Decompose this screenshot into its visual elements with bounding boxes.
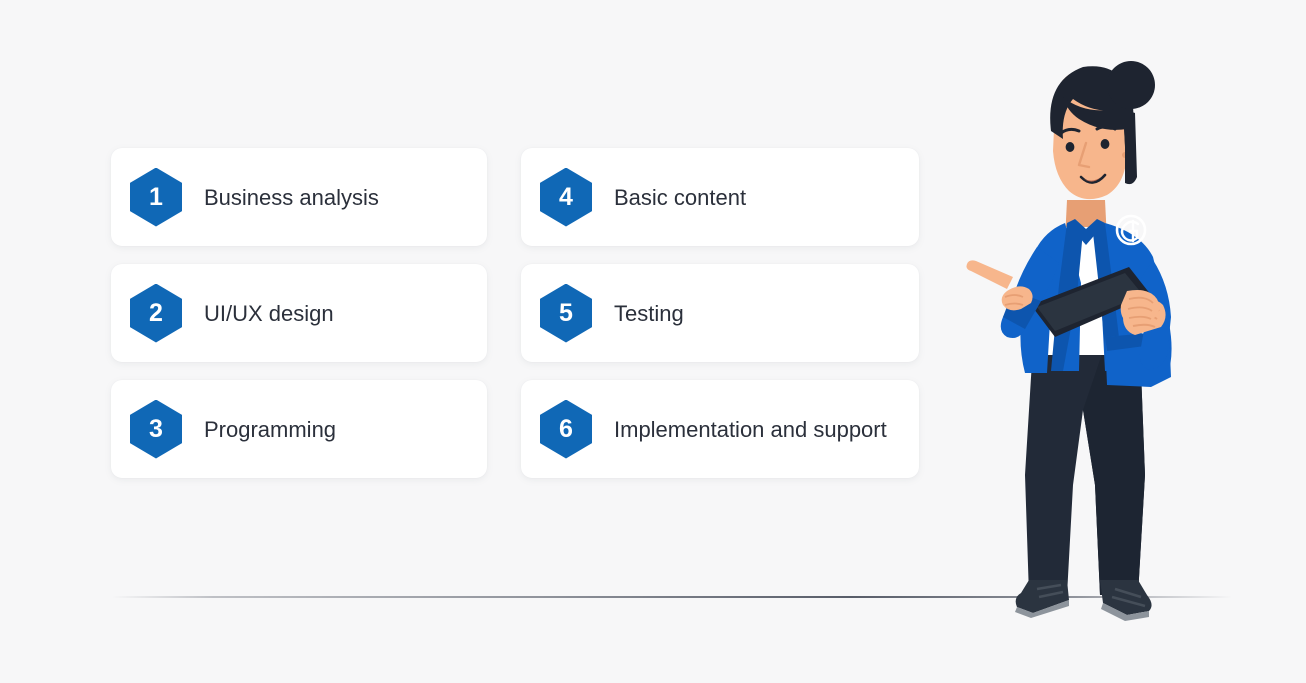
step-number: 5 <box>559 301 573 326</box>
step-label: Testing <box>614 299 684 328</box>
hexagon-badge-icon: 4 <box>540 168 592 227</box>
step-card-3[interactable]: 3 Programming <box>111 380 487 478</box>
step-card-1[interactable]: 1 Business analysis <box>111 148 487 246</box>
hexagon-badge-icon: 6 <box>540 400 592 459</box>
step-label: Implementation and support <box>614 415 887 444</box>
hexagon-badge-icon: 1 <box>130 168 182 227</box>
hexagon-badge-icon: 2 <box>130 284 182 343</box>
page-root: 1 Business analysis 4 Basic content 2 UI… <box>0 0 1306 683</box>
step-label: Programming <box>204 415 336 444</box>
step-number: 6 <box>559 417 573 442</box>
step-number: 2 <box>149 301 163 326</box>
step-label: Business analysis <box>204 183 379 212</box>
index-finger <box>967 260 1014 289</box>
steps-grid: 1 Business analysis 4 Basic content 2 UI… <box>111 148 921 478</box>
step-card-4[interactable]: 4 Basic content <box>521 148 919 246</box>
step-number: 1 <box>149 185 163 210</box>
hexagon-badge-icon: 5 <box>540 284 592 343</box>
step-label: Basic content <box>614 183 746 212</box>
step-number: 4 <box>559 185 573 210</box>
step-card-6[interactable]: 6 Implementation and support <box>521 380 919 478</box>
person-illustration <box>955 55 1235 625</box>
eye-right <box>1101 139 1110 149</box>
hair-bun <box>1107 61 1155 109</box>
step-card-2[interactable]: 2 UI/UX design <box>111 264 487 362</box>
step-card-5[interactable]: 5 Testing <box>521 264 919 362</box>
step-number: 3 <box>149 417 163 442</box>
hair-side-strand <box>1123 109 1137 184</box>
step-label: UI/UX design <box>204 299 334 328</box>
hexagon-badge-icon: 3 <box>130 400 182 459</box>
eye-left <box>1066 142 1075 152</box>
